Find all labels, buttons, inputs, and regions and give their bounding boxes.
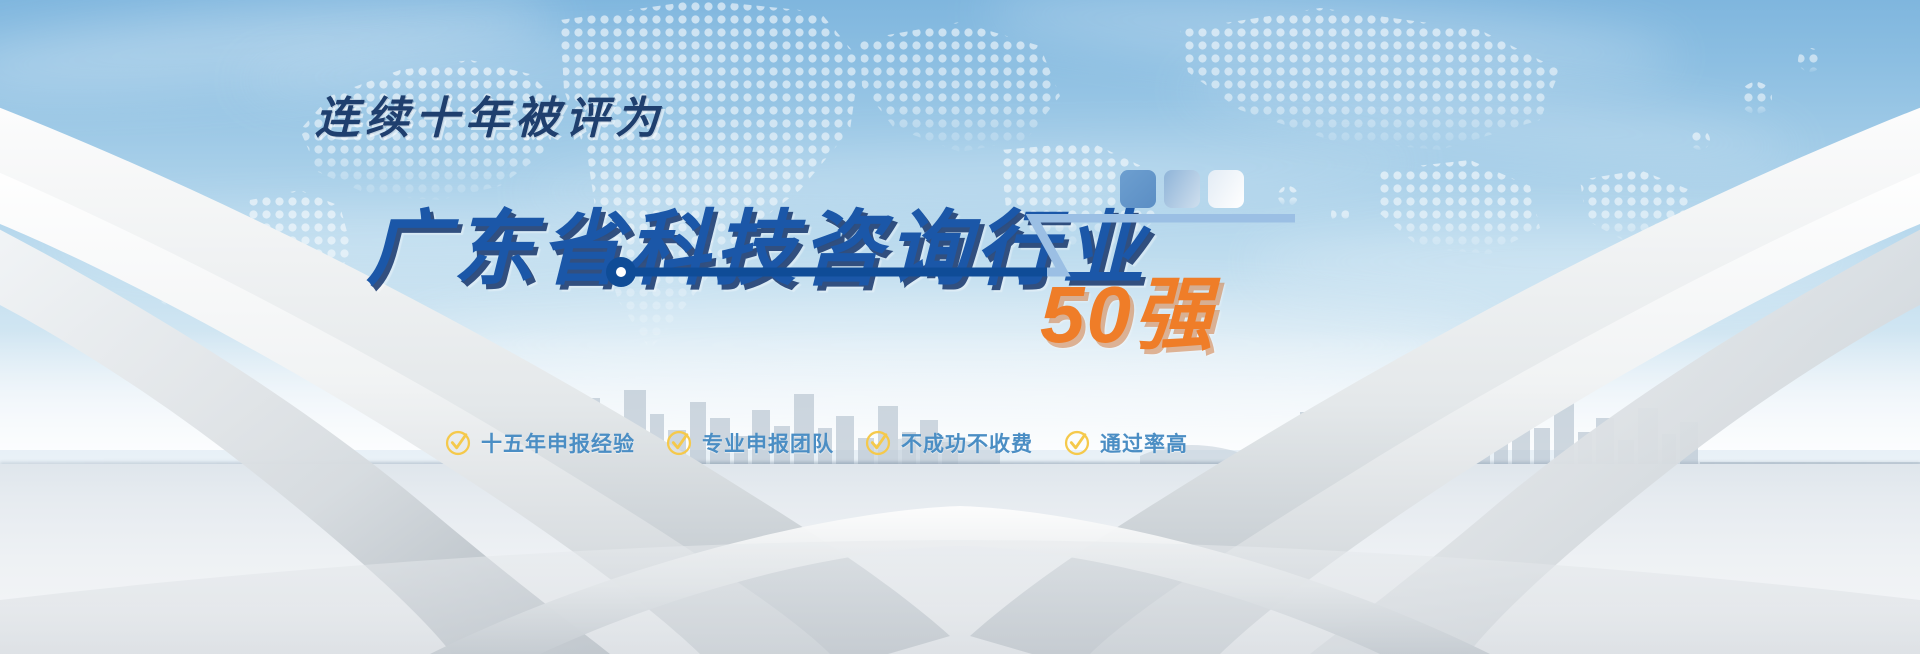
feature-badge-label: 专业申报团队 <box>702 428 834 458</box>
rank-badge-text: 50强 <box>1040 250 1215 366</box>
feature-badge-label: 通过率高 <box>1100 428 1188 458</box>
banner-content: 连续十年被评为 广东省科技咨询行业 50强 十五年申报经验 <box>0 0 1920 654</box>
feature-badge-label: 十五年申报经验 <box>481 428 635 458</box>
eyebrow-text: 连续十年被评为 <box>315 82 665 146</box>
decor-block-mid-blue <box>1164 170 1200 208</box>
check-circle-icon <box>864 429 892 457</box>
decor-block-group <box>1120 170 1244 208</box>
feature-badge: 专业申报团队 <box>665 428 834 458</box>
check-circle-icon <box>1063 429 1091 457</box>
feature-badge: 通过率高 <box>1063 428 1188 458</box>
feature-badge: 不成功不收费 <box>864 428 1033 458</box>
check-circle-icon <box>665 429 693 457</box>
feature-badge-label: 不成功不收费 <box>901 428 1033 458</box>
decor-block-white <box>1208 170 1244 208</box>
decor-block-solid-blue <box>1120 170 1156 208</box>
check-circle-icon <box>444 429 472 457</box>
promotional-banner: 连续十年被评为 广东省科技咨询行业 50强 十五年申报经验 <box>0 0 1920 654</box>
feature-badge: 十五年申报经验 <box>444 428 635 458</box>
feature-badge-list: 十五年申报经验 专业申报团队 不成功不收费 <box>444 428 1188 458</box>
